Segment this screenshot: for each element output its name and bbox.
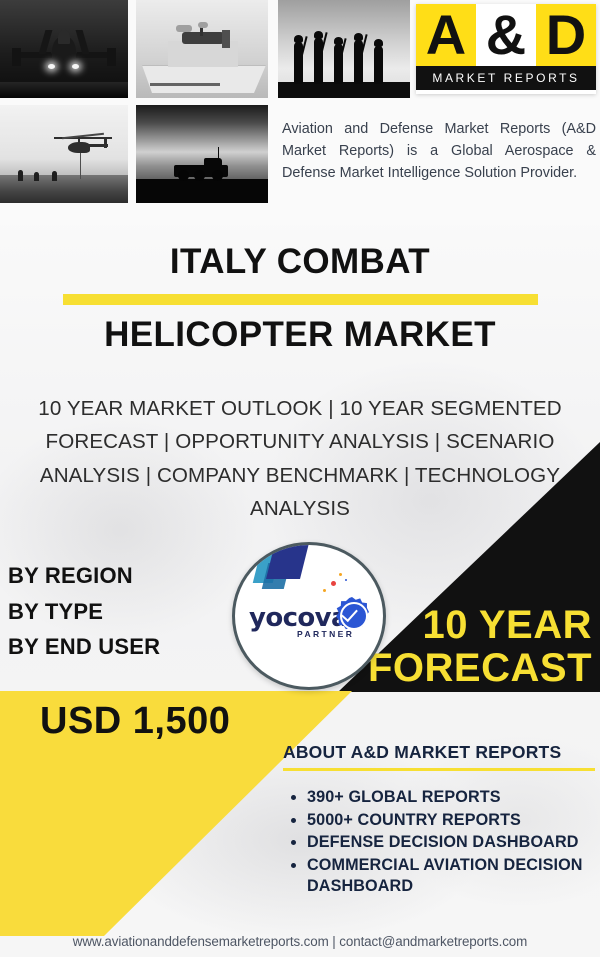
- jet-silhouette: [12, 28, 116, 74]
- vehicle-silhouette: [174, 159, 228, 181]
- about-section: ABOUT A&D MARKET REPORTS 390+ GLOBAL REP…: [283, 742, 595, 899]
- yocova-partner-badge: yocova PARTNER: [232, 542, 386, 690]
- title-line-1: ITALY COMBAT: [0, 243, 600, 281]
- about-heading: ABOUT A&D MARKET REPORTS: [283, 742, 595, 763]
- list-item: 390+ GLOBAL REPORTS: [307, 787, 595, 808]
- helicopter-silhouette: [56, 133, 108, 163]
- logo-letter-a: A: [416, 4, 476, 66]
- about-heading-underline: [283, 768, 595, 771]
- segment-item-end-user: BY END USER: [8, 629, 160, 665]
- confetti-dot-blue: [345, 579, 347, 581]
- logo-letter-d: D: [536, 4, 596, 66]
- title-underline-bar: [63, 294, 538, 305]
- ad-market-reports-logo: A & D MARKET REPORTS: [416, 4, 596, 94]
- segmentation-list: BY REGION BY TYPE BY END USER: [8, 558, 160, 665]
- confetti-dot-orange: [323, 589, 326, 592]
- naval-ship-photo: [136, 0, 268, 98]
- report-scope-subtitle: 10 YEAR MARKET OUTLOOK | 10 YEAR SEGMENT…: [14, 392, 586, 525]
- list-item: COMMERCIAL AVIATION DECISION DASHBOARD: [307, 855, 595, 896]
- title-line-2: HELICOPTER MARKET: [0, 316, 600, 354]
- forecast-callout: 10 YEAR FORECAST: [368, 604, 592, 690]
- carrier-deck: [0, 82, 128, 98]
- list-item: DEFENSE DECISION DASHBOARD: [307, 832, 595, 853]
- confetti-dot-amber: [339, 573, 342, 576]
- about-bullet-list: 390+ GLOBAL REPORTS 5000+ COUNTRY REPORT…: [283, 787, 595, 897]
- price-value: USD 1,500: [40, 700, 230, 743]
- logo-tagline: MARKET REPORTS: [432, 71, 579, 85]
- logo-letters: A & D: [416, 4, 596, 66]
- logo-tagline-bar: MARKET REPORTS: [416, 66, 596, 90]
- armored-vehicle-photo: [136, 105, 268, 203]
- report-poster: A & D MARKET REPORTS Aviation and Defens…: [0, 0, 600, 957]
- badge-shape-navy: [266, 542, 310, 579]
- ship-silhouette: [142, 30, 266, 94]
- logo-ampersand: &: [476, 4, 536, 66]
- segment-item-region: BY REGION: [8, 558, 160, 594]
- segment-item-type: BY TYPE: [8, 594, 160, 630]
- company-intro-paragraph: Aviation and Defense Market Reports (A&D…: [282, 118, 596, 184]
- fighter-jet-photo: [0, 0, 128, 98]
- soldiers-photo: [278, 0, 410, 98]
- confetti-dot-red: [331, 581, 336, 586]
- report-title: ITALY COMBAT HELICOPTER MARKET: [0, 243, 600, 354]
- footer-contact[interactable]: www.aviationanddefensemarketreports.com …: [0, 934, 600, 949]
- helicopter-photo: [0, 105, 128, 203]
- forecast-line-1: 10 YEAR: [368, 604, 592, 647]
- list-item: 5000+ COUNTRY REPORTS: [307, 810, 595, 831]
- forecast-line-2: FORECAST: [368, 647, 592, 690]
- verified-check-icon: [335, 597, 369, 631]
